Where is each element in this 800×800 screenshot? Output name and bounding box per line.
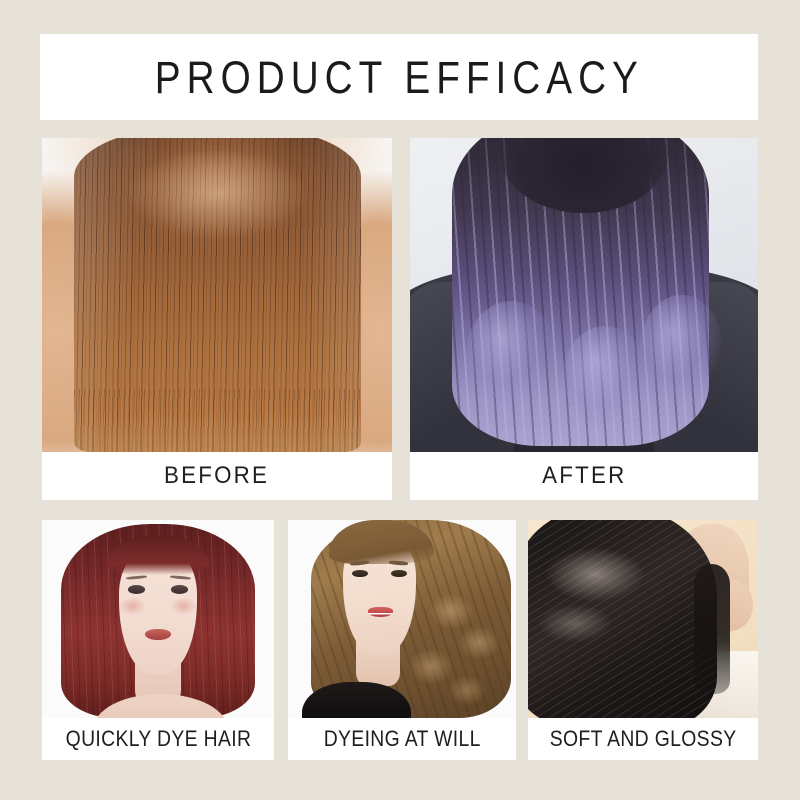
feature-panel-quickly-dye-hair[interactable]: QUICKLY DYE HAIR <box>42 520 274 760</box>
eye-left <box>352 570 368 578</box>
comparison-panel-after[interactable]: AFTER <box>410 138 758 500</box>
caption-bar-quickly-dye-hair: QUICKLY DYE HAIR <box>42 718 274 760</box>
product-efficacy-infographic: PRODUCT EFFICACY BEFORE AFTE <box>0 0 800 800</box>
eye-left <box>128 585 145 593</box>
lips <box>145 629 171 640</box>
caption-label-after: AFTER <box>542 464 626 488</box>
hair-curl-right <box>640 295 724 402</box>
caption-label-dyeing-at-will: DYEING AT WILL <box>324 728 481 750</box>
front-hair-lock <box>694 564 731 695</box>
brown-hair-photo <box>288 520 516 718</box>
before-hair-photo <box>42 138 392 452</box>
page-title: PRODUCT EFFICACY <box>154 55 643 100</box>
caption-label-quickly-dye-hair: QUICKLY DYE HAIR <box>65 728 251 750</box>
caption-bar-soft-and-glossy: SOFT AND GLOSSY <box>528 718 758 760</box>
caption-bar-before: BEFORE <box>42 452 392 500</box>
blush-left <box>119 597 147 615</box>
feature-panel-soft-and-glossy[interactable]: SOFT AND GLOSSY <box>528 520 758 760</box>
black-hair-photo <box>528 520 758 718</box>
red-hair-photo <box>42 520 274 718</box>
caption-bar-dyeing-at-will: DYEING AT WILL <box>288 718 516 760</box>
eye-right <box>391 570 407 578</box>
hair-shine-highlight <box>91 151 343 258</box>
caption-bar-after: AFTER <box>410 452 758 500</box>
comparison-panel-before[interactable]: BEFORE <box>42 138 392 500</box>
lips <box>368 607 393 617</box>
hair-tips <box>74 389 361 452</box>
caption-label-before: BEFORE <box>164 464 269 488</box>
caption-label-soft-and-glossy: SOFT AND GLOSSY <box>550 728 737 750</box>
hair-gloss-highlight <box>528 520 717 718</box>
eye-right <box>171 585 188 593</box>
feature-panel-dyeing-at-will[interactable]: DYEING AT WILL <box>288 520 516 760</box>
hair-curl-center <box>563 326 647 426</box>
after-hair-photo <box>410 138 758 452</box>
hair-curl-left <box>466 301 556 408</box>
title-bar: PRODUCT EFFICACY <box>40 34 758 120</box>
